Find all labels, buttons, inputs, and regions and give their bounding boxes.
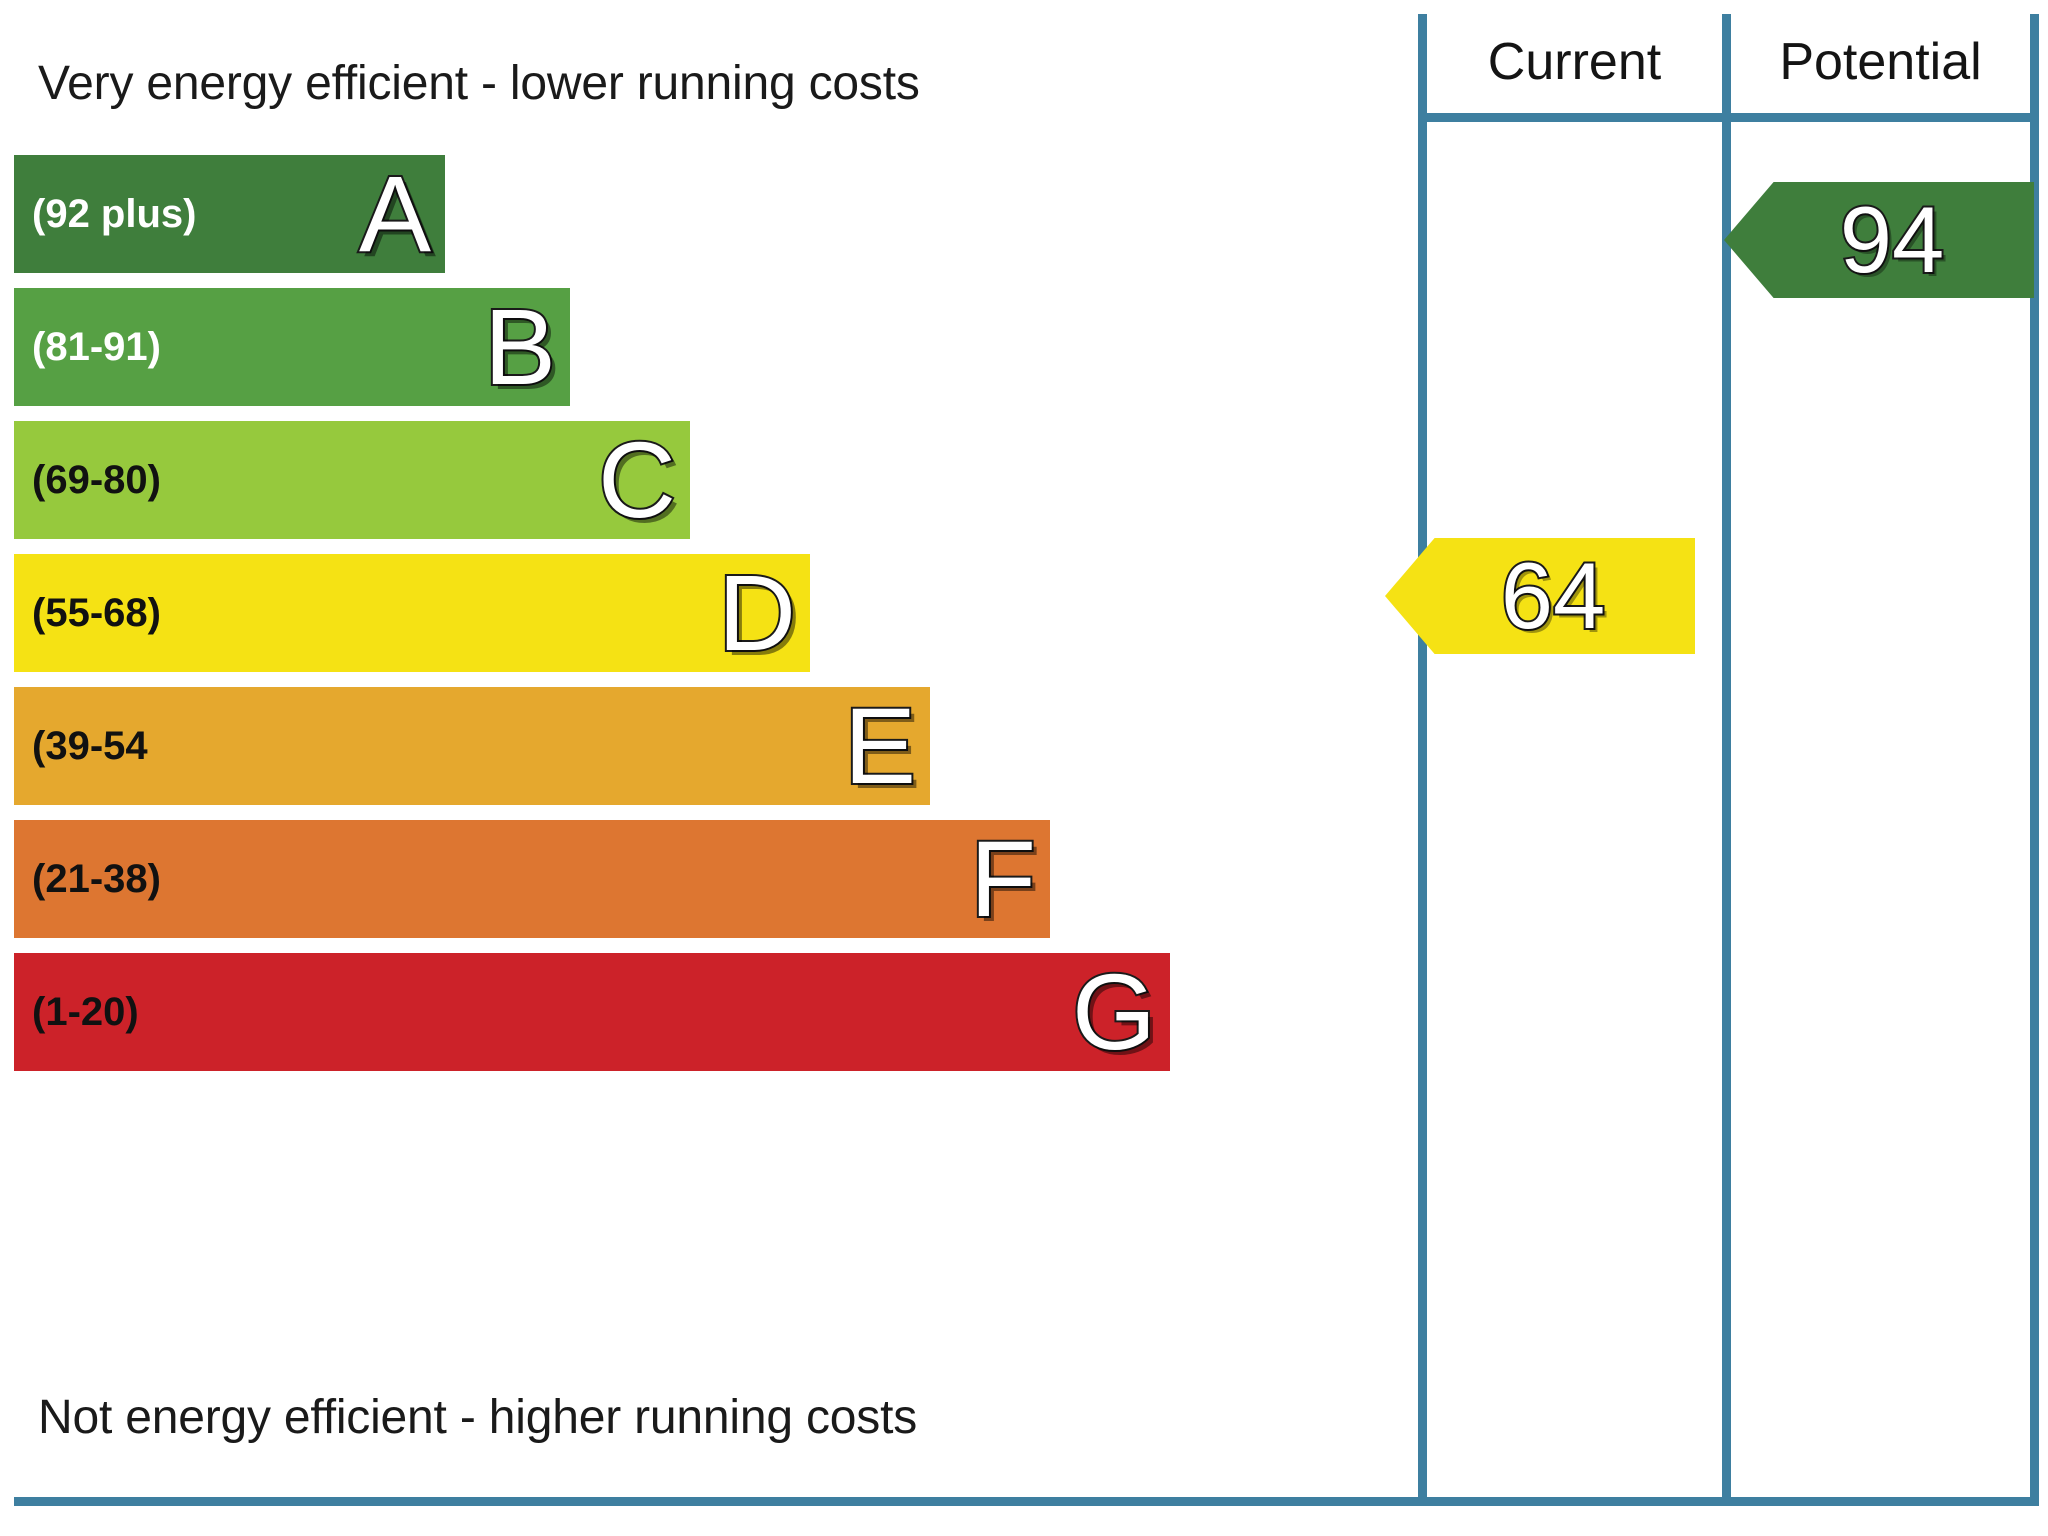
column-header-potential-label: Potential (1779, 32, 1981, 92)
rating-band-g: (1-20) G (14, 953, 1170, 1071)
potential-score-arrow: 94 (1724, 182, 2034, 298)
bottom-caption: Not energy efficient - higher running co… (38, 1390, 917, 1445)
band-range-label: (81-91) (32, 327, 161, 367)
band-letter-b: B (484, 293, 556, 401)
band-letter-c: C (598, 426, 676, 534)
rating-band-e: (39-54 E (14, 687, 930, 805)
band-range-label: (39-54 (32, 726, 148, 766)
current-score-value: 64 (1475, 549, 1606, 643)
band-letter-a: A (359, 160, 431, 268)
rating-band-list: (92 plus) A (81-91) B (69-80) C (55-68) … (0, 0, 1420, 1536)
band-range-label: (92 plus) (32, 194, 196, 234)
rating-band-b: (81-91) B (14, 288, 570, 406)
column-header-potential: Potential (1731, 22, 2030, 102)
band-letter-e: E (844, 692, 916, 800)
table-bottom-rule (14, 1497, 2039, 1506)
energy-efficiency-rating-chart: Very energy efficient - lower running co… (0, 0, 2048, 1536)
table-header-rule (1418, 113, 2039, 122)
band-letter-d: D (718, 559, 796, 667)
column-header-current: Current (1427, 22, 1722, 102)
band-range-label: (1-20) (32, 992, 139, 1032)
rating-band-d: (55-68) D (14, 554, 810, 672)
band-range-label: (69-80) (32, 460, 161, 500)
table-left-border (1418, 14, 1427, 1506)
potential-score-value: 94 (1814, 193, 1945, 287)
band-range-label: (55-68) (32, 593, 161, 633)
current-score-arrow: 64 (1385, 538, 1695, 654)
band-range-label: (21-38) (32, 859, 161, 899)
band-letter-g: G (1072, 958, 1156, 1066)
rating-band-c: (69-80) C (14, 421, 690, 539)
band-letter-f: F (970, 825, 1036, 933)
rating-band-f: (21-38) F (14, 820, 1050, 938)
rating-band-a: (92 plus) A (14, 155, 445, 273)
column-header-current-label: Current (1488, 32, 1661, 92)
